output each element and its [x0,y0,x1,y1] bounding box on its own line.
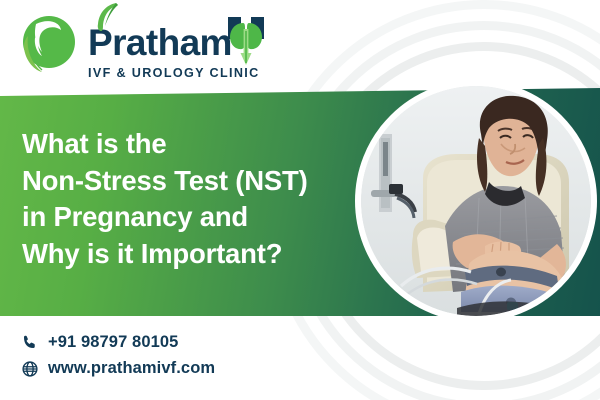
brand-text-block: Pratham IVF & UROLOGY CLINIC [88,9,266,80]
brand-logo[interactable]: Pratham IVF & UROLOGY CLINIC [16,8,266,80]
contact-website[interactable]: www.prathamivf.com [20,359,215,378]
headline-line-1: What is the [22,126,362,163]
brand-name: Pratham [88,25,232,60]
headline-line-2: Non-Stress Test (NST) [22,163,362,200]
pregnant-patient-nst-photo [355,80,597,322]
contact-block: +91 98797 80105 www.prathamivf.com [20,333,215,378]
phone-icon [20,333,39,352]
page-title: What is the Non-Stress Test (NST) in Pre… [22,126,362,272]
headline-line-4: Why is it Important? [22,236,362,273]
clinic-promo-banner: Pratham IVF & UROLOGY CLINIC [0,0,600,400]
leaf-circle-icon [16,12,78,76]
globe-icon [20,359,39,378]
brand-tagline: IVF & UROLOGY CLINIC [88,66,266,80]
contact-phone[interactable]: +91 98797 80105 [20,333,215,352]
headline-line-3: in Pregnancy and [22,199,362,236]
phone-number: +91 98797 80105 [48,333,178,352]
website-url: www.prathamivf.com [48,359,215,378]
kidney-arrow-icon [226,11,266,67]
